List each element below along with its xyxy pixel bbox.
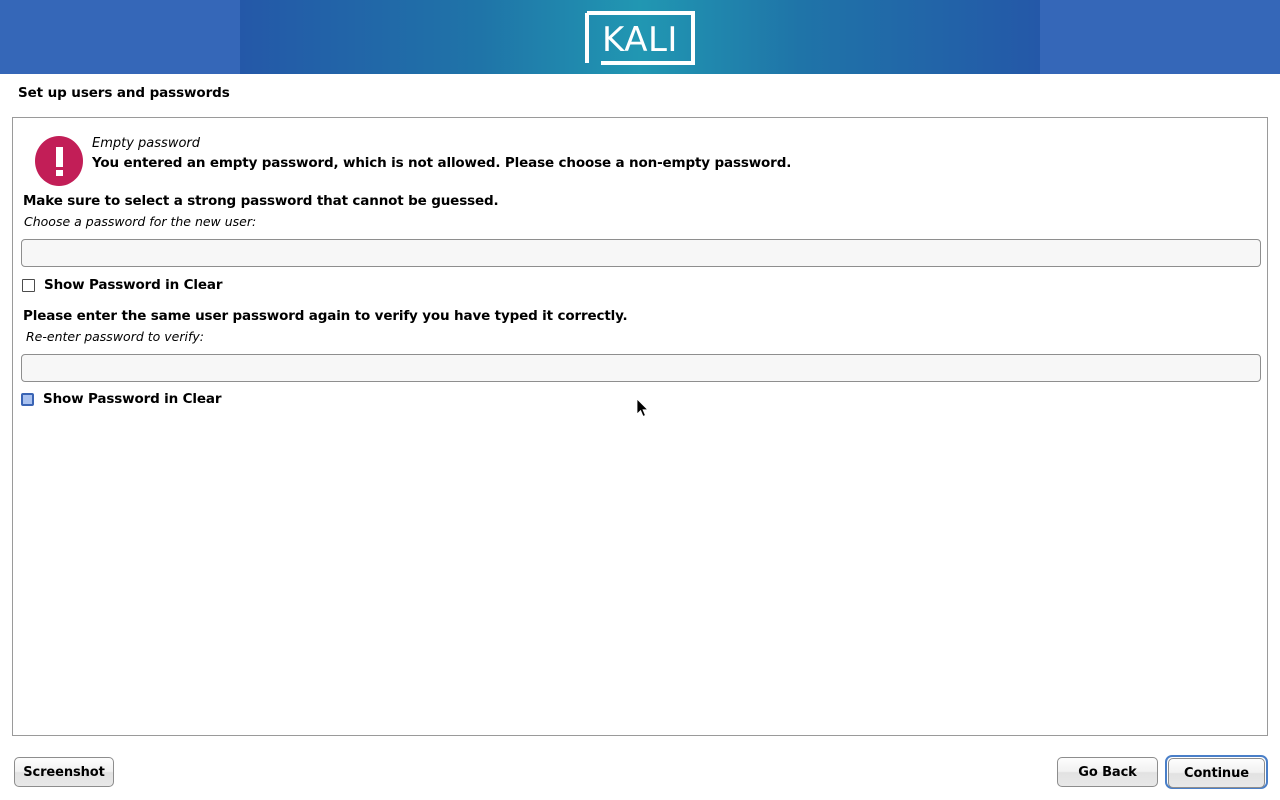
show-password-checkbox-2[interactable]: Show Password in Clear (21, 390, 221, 408)
error-exclamation-icon (35, 136, 83, 186)
checkbox-box-2[interactable] (21, 393, 34, 406)
continue-button[interactable]: Continue (1168, 758, 1265, 788)
checkbox-box-1[interactable] (22, 279, 35, 292)
error-block: Empty password You entered an empty pass… (23, 126, 1253, 188)
go-back-button[interactable]: Go Back (1057, 757, 1158, 787)
page-title: Set up users and passwords (18, 85, 230, 101)
verify-field-label: Re-enter password to verify: (26, 329, 204, 344)
error-title: Empty password (92, 136, 200, 151)
show-password-checkbox-1[interactable]: Show Password in Clear (22, 276, 222, 294)
kali-banner: KALI (0, 0, 1280, 74)
svg-text:KALI: KALI (602, 20, 678, 60)
password-input[interactable] (21, 239, 1261, 267)
verify-hint: Please enter the same user password agai… (23, 308, 628, 324)
show-password-label-1: Show Password in Clear (44, 277, 222, 293)
password-strength-hint: Make sure to select a strong password th… (23, 193, 498, 209)
password-field-label: Choose a password for the new user: (24, 214, 256, 229)
installer-screen: KALI Set up users and passwords Empty pa… (0, 0, 1280, 800)
screenshot-button[interactable]: Screenshot (14, 757, 114, 787)
error-message: You entered an empty password, which is … (92, 155, 791, 171)
show-password-label-2: Show Password in Clear (43, 391, 221, 407)
verify-password-input[interactable] (21, 354, 1261, 382)
content-panel: Empty password You entered an empty pass… (12, 117, 1268, 736)
kali-logo-icon: KALI (583, 10, 697, 66)
